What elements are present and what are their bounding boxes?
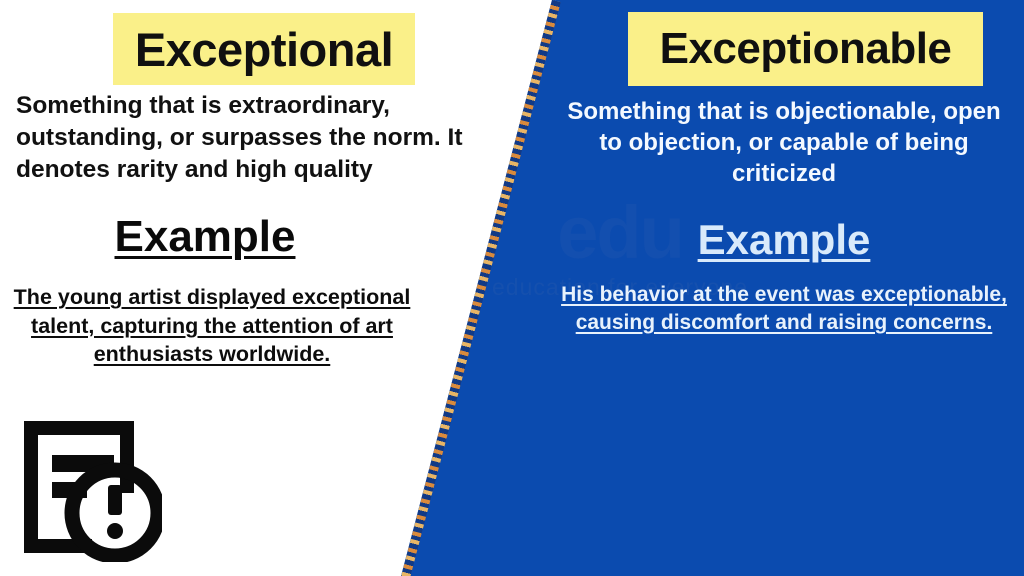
right-definition: Something that is objectionable, open to… [558, 96, 1010, 190]
right-title-chip: Exceptionable [628, 12, 983, 86]
comparison-infographic: edu education for everyone Exceptional S… [0, 0, 1024, 576]
left-example-text: The young artist displayed exceptional t… [12, 283, 412, 369]
left-title-chip: Exceptional [113, 13, 415, 85]
right-example-text: His behavior at the event was exceptiona… [556, 281, 1012, 337]
left-definition: Something that is extraordinary, outstan… [16, 90, 512, 186]
document-alert-icon [14, 407, 162, 562]
right-column: Exceptionable Something that is objectio… [540, 0, 1024, 576]
left-example-heading: Example [0, 212, 410, 262]
right-example-heading: Example [552, 216, 1016, 264]
